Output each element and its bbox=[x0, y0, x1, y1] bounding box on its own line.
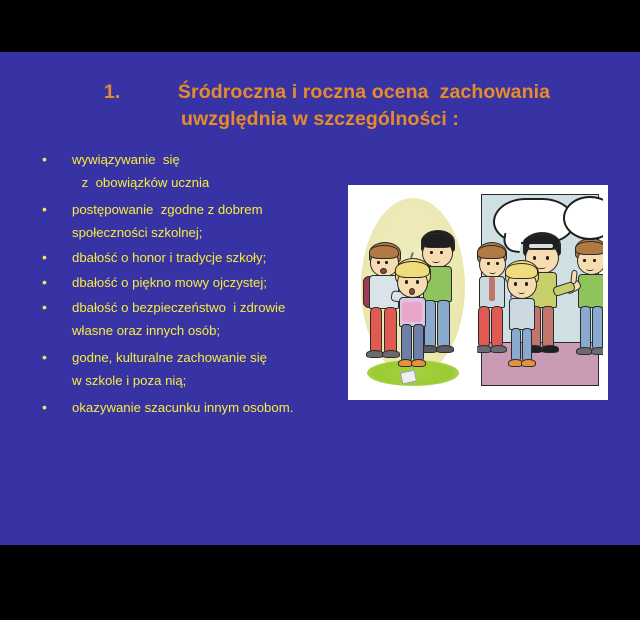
mouth bbox=[518, 290, 525, 294]
eye-right bbox=[385, 261, 388, 264]
hair-fringe bbox=[369, 245, 399, 259]
leg-right bbox=[522, 328, 532, 362]
letterbox-bar-bottom bbox=[0, 545, 640, 620]
list-item-label: dbałość o bezpieczeństwo i zdrowie bbox=[72, 300, 285, 315]
list-item-continuation: z obowiązków ucznia bbox=[38, 172, 348, 193]
title-line-1: 1.Śródroczna i roczna ocena zachowania bbox=[0, 79, 640, 106]
eye-right bbox=[440, 251, 443, 254]
bullet-marker-icon: • bbox=[42, 247, 47, 268]
mouth-frown bbox=[489, 270, 496, 274]
mouth bbox=[380, 268, 387, 274]
hair-highlight bbox=[529, 244, 553, 248]
eye-left bbox=[377, 261, 380, 264]
leg-right bbox=[592, 306, 603, 350]
cartoon-illustration bbox=[348, 185, 608, 400]
leg-left bbox=[478, 306, 490, 348]
list-item-label: godne, kulturalne zachowanie się bbox=[72, 350, 267, 365]
leg-left bbox=[401, 324, 412, 362]
shoe-right bbox=[591, 347, 603, 355]
shirt-detail bbox=[402, 302, 422, 322]
slide-title: 1.Śródroczna i roczna ocena zachowania u… bbox=[0, 79, 640, 133]
torso-shirt bbox=[509, 298, 535, 330]
slide-frame: 1.Śródroczna i roczna ocena zachowania u… bbox=[0, 0, 640, 620]
bullet-marker-icon: • bbox=[42, 297, 47, 318]
list-item-label: dbałość o honor i tradycje szkoły; bbox=[72, 250, 266, 265]
kid-blond-victim bbox=[393, 258, 439, 378]
bullet-marker-icon: • bbox=[42, 272, 47, 293]
list-item-label: postępowanie zgodne z dobrem bbox=[72, 202, 263, 217]
bullet-marker-icon: • bbox=[42, 199, 47, 220]
leg-right bbox=[413, 324, 424, 362]
title-text-line1: Śródroczna i roczna ocena zachowania bbox=[178, 81, 550, 103]
hair-fringe bbox=[505, 263, 538, 279]
list-item: • wywiązywanie się bbox=[38, 149, 348, 170]
hair-fringe bbox=[421, 233, 454, 248]
bullet-marker-icon: • bbox=[42, 347, 47, 368]
hair-fringe bbox=[395, 261, 430, 278]
mouth bbox=[586, 267, 594, 271]
hair-fringe bbox=[477, 245, 506, 259]
panel-bullying-scene bbox=[353, 190, 473, 392]
hair-fringe bbox=[575, 241, 603, 255]
list-item: • dbałość o bezpieczeństwo i zdrowie bbox=[38, 297, 348, 318]
leg-left bbox=[370, 307, 382, 353]
eye-left bbox=[487, 262, 490, 265]
panel-confrontation-scene bbox=[477, 190, 603, 392]
leg-right bbox=[491, 306, 503, 348]
list-item-continuation: w szkole i poza nią; bbox=[38, 370, 348, 391]
list-item-continuation: społeczności szkolnej; bbox=[38, 222, 348, 243]
eye-left bbox=[430, 251, 433, 254]
kid-blond-defended bbox=[503, 260, 547, 376]
list-item-label: wywiązywanie się bbox=[72, 152, 180, 167]
mouth-worried bbox=[409, 288, 415, 295]
list-item: • dbałość o piękno mowy ojczystej; bbox=[38, 272, 348, 293]
torso-shirt bbox=[578, 274, 603, 308]
eye-right bbox=[496, 262, 499, 265]
eye-right bbox=[593, 259, 596, 262]
list-item-label: dbałość o piękno mowy ojczystej; bbox=[72, 275, 267, 290]
tie bbox=[489, 277, 495, 301]
bullet-marker-icon: • bbox=[42, 149, 47, 170]
shoe-right bbox=[521, 359, 536, 367]
illustration-inner bbox=[353, 190, 603, 392]
leg-left bbox=[580, 306, 591, 350]
list-item: • postępowanie zgodne z dobrem bbox=[38, 199, 348, 220]
shoe-right bbox=[411, 359, 426, 367]
list-item: • dbałość o honor i tradycje szkoły; bbox=[38, 247, 348, 268]
letterbox-bar-top bbox=[0, 0, 640, 52]
list-item-label: okazywanie szacunku innym osobom. bbox=[72, 400, 293, 415]
pointing-finger bbox=[570, 270, 577, 285]
list-item: • okazywanie szacunku innym osobom. bbox=[38, 397, 348, 418]
bullet-list: • wywiązywanie się z obowiązków ucznia •… bbox=[38, 149, 348, 420]
title-line-2: uwzględnia w szczególności : bbox=[0, 106, 640, 133]
leg-left bbox=[511, 328, 521, 362]
list-item: • godne, kulturalne zachowanie się bbox=[38, 347, 348, 368]
eye-left bbox=[583, 259, 586, 262]
bullet-marker-icon: • bbox=[42, 397, 47, 418]
slide-canvas: 1.Śródroczna i roczna ocena zachowania u… bbox=[0, 52, 640, 545]
title-number: 1. bbox=[104, 79, 178, 106]
list-item-continuation: własne oraz innych osób; bbox=[38, 320, 348, 341]
